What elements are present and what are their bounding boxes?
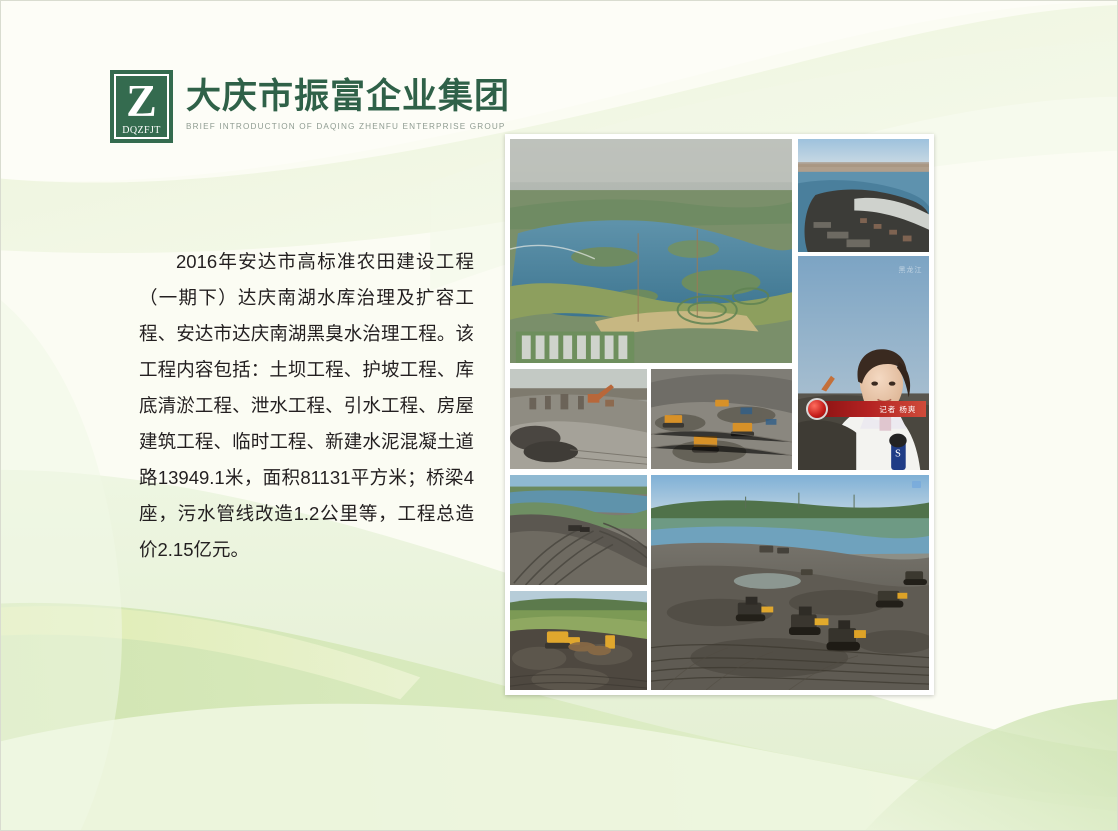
reporter-label: 记者 杨爽 — [879, 404, 916, 415]
news-record-dot-icon — [806, 398, 828, 420]
photo-image — [510, 369, 647, 469]
news-name-bar: 记者 杨爽 — [822, 401, 927, 417]
company-tagline: BRIEF INTRODUCTION OF DAQING ZHENFU ENTE… — [186, 122, 510, 131]
photo-image — [510, 591, 647, 690]
collage-photo-reporter[interactable]: S 黑龙江 记者 杨爽 — [796, 254, 931, 472]
photo-image: S — [798, 256, 929, 470]
body-text-block: 2016年安达市高标准农田建设工程（一期下）达庆南湖水库治理及扩容工程、安达市达… — [139, 244, 474, 568]
logo-letter: Z — [110, 78, 173, 124]
tv-channel-badge-icon — [912, 481, 921, 488]
news-lower-third: 记者 杨爽 — [806, 393, 927, 425]
logo-abbreviation: DQZFJT — [110, 125, 173, 136]
logo-mark-icon: Z DQZFJT — [110, 70, 173, 143]
svg-text:S: S — [895, 447, 901, 459]
collage-photo-aerial-shoreline[interactable] — [796, 137, 931, 254]
brand-logo-block: Z DQZFJT 大庆市振富企业集团 BRIEF INTRODUCTION OF… — [110, 70, 510, 143]
project-description-paragraph: 2016年安达市高标准农田建设工程（一期下）达庆南湖水库治理及扩容工程、安达市达… — [139, 244, 474, 568]
presentation-slide: Z DQZFJT 大庆市振富企业集团 BRIEF INTRODUCTION OF… — [0, 0, 1118, 831]
photo-image — [510, 139, 792, 363]
company-name: 大庆市振富企业集团 — [186, 77, 510, 117]
photo-image — [798, 139, 929, 252]
collage-photo-site-wide[interactable] — [649, 473, 931, 692]
collage-photo-dozer-slope[interactable] — [649, 367, 794, 471]
photo-image — [651, 369, 792, 469]
photo-image — [651, 475, 929, 690]
collage-photo-excavators[interactable] — [508, 367, 649, 471]
photo-collage: S 黑龙江 记者 杨爽 — [505, 134, 934, 695]
collage-photo-lake-masterplan[interactable] — [508, 137, 794, 365]
collage-photo-field-grading[interactable] — [508, 589, 649, 692]
brand-text: 大庆市振富企业集团 BRIEF INTRODUCTION OF DAQING Z… — [186, 70, 510, 131]
channel-watermark: 黑龙江 — [898, 265, 922, 275]
photo-image — [510, 475, 647, 585]
collage-photo-channel[interactable] — [508, 473, 649, 587]
